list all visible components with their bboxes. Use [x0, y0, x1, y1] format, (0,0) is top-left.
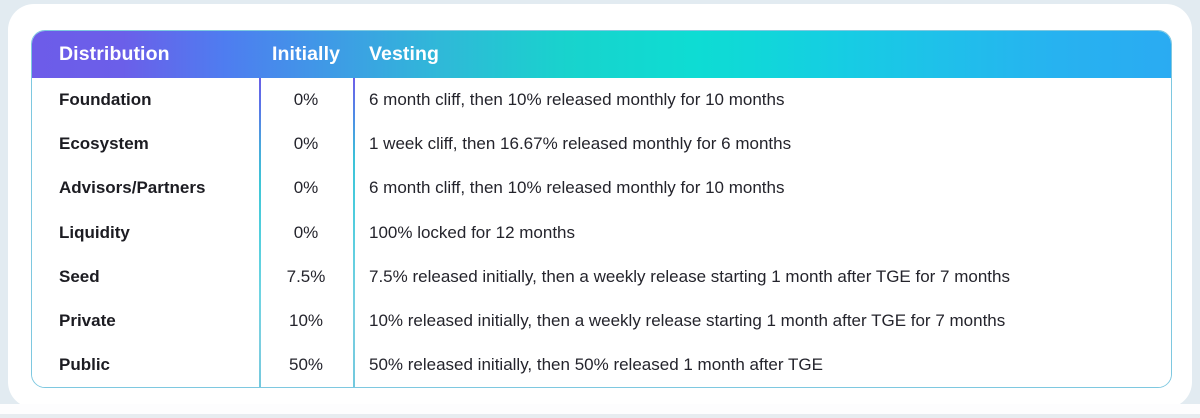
cell-initially: 0% — [259, 90, 353, 110]
column-header-initially: Initially — [259, 43, 353, 66]
cell-distribution: Foundation — [32, 90, 259, 110]
cell-initially: 7.5% — [259, 267, 353, 287]
page-background: Distribution Initially Vesting Foundatio… — [0, 0, 1200, 418]
table-row: Seed 7.5% 7.5% released initially, then … — [32, 255, 1171, 299]
table-row: Public 50% 50% released initially, then … — [32, 343, 1171, 387]
cell-distribution: Advisors/Partners — [32, 178, 259, 198]
table-row: Foundation 0% 6 month cliff, then 10% re… — [32, 78, 1171, 122]
column-header-vesting: Vesting — [353, 43, 1171, 66]
cell-initially: 0% — [259, 223, 353, 243]
cell-initially: 0% — [259, 134, 353, 154]
table-row: Liquidity 0% 100% locked for 12 months — [32, 211, 1171, 255]
cell-initially: 50% — [259, 355, 353, 375]
column-header-distribution: Distribution — [32, 43, 259, 66]
cell-distribution: Public — [32, 355, 259, 375]
cell-distribution: Ecosystem — [32, 134, 259, 154]
table-body: Foundation 0% 6 month cliff, then 10% re… — [32, 78, 1171, 387]
cell-distribution: Liquidity — [32, 223, 259, 243]
cell-initially: 10% — [259, 311, 353, 331]
cell-distribution: Seed — [32, 267, 259, 287]
cell-initially: 0% — [259, 178, 353, 198]
cell-distribution: Private — [32, 311, 259, 331]
cell-vesting: 50% released initially, then 50% release… — [353, 355, 1171, 375]
cell-vesting: 6 month cliff, then 10% released monthly… — [353, 90, 1171, 110]
page-bottom-hairline — [0, 414, 1200, 418]
cell-vesting: 7.5% released initially, then a weekly r… — [353, 267, 1171, 287]
token-distribution-table: Distribution Initially Vesting Foundatio… — [31, 30, 1172, 388]
cell-vesting: 6 month cliff, then 10% released monthly… — [353, 178, 1171, 198]
cell-vesting: 100% locked for 12 months — [353, 223, 1171, 243]
cell-vesting: 10% released initially, then a weekly re… — [353, 311, 1171, 331]
table-header-row: Distribution Initially Vesting — [32, 31, 1171, 78]
table-row: Private 10% 10% released initially, then… — [32, 299, 1171, 343]
table-row: Ecosystem 0% 1 week cliff, then 16.67% r… — [32, 122, 1171, 166]
cell-vesting: 1 week cliff, then 16.67% released month… — [353, 134, 1171, 154]
table-row: Advisors/Partners 0% 6 month cliff, then… — [32, 166, 1171, 210]
